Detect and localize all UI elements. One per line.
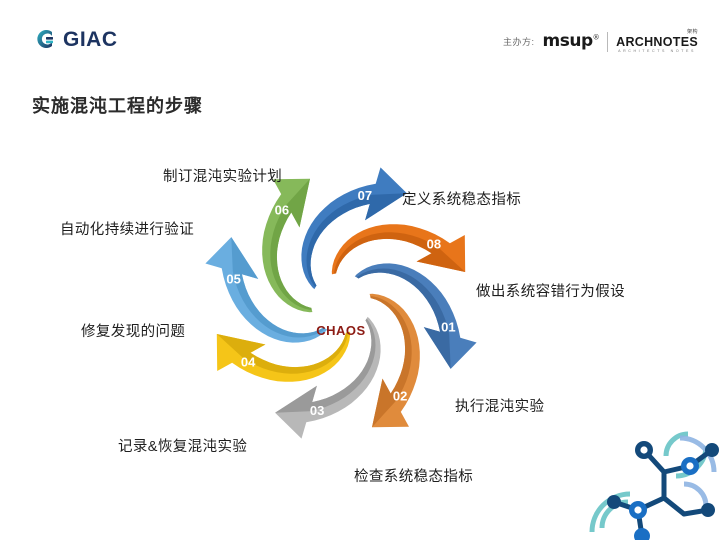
step-label-02: 定义系统稳态指标 (402, 188, 521, 209)
page-title: 实施混沌工程的步骤 (32, 92, 203, 118)
msup-logo: msup® (543, 33, 600, 50)
sponsor-bar: 主办方: msup® 架构 ARCHNOTES ARCHITECTS NOTES (503, 30, 698, 53)
archnotes-logo: 架构 ARCHNOTES ARCHITECTS NOTES (616, 30, 698, 53)
sponsor-label: 主办方: (503, 35, 535, 48)
msup-logo-text: msup (543, 31, 593, 51)
step-number-04: 04 (241, 355, 256, 370)
step-label-01: 制订混沌实验计划 (163, 165, 282, 186)
giac-mark-icon (32, 26, 58, 52)
step-number-05: 05 (226, 272, 240, 287)
step-number-01: 01 (441, 319, 455, 334)
step-number-06: 06 (275, 203, 289, 218)
step-number-08: 08 (427, 236, 441, 251)
step-label-03: 做出系统容错行为假设 (476, 280, 625, 301)
step-number-02: 02 (393, 388, 407, 403)
giac-logo-text: GIAC (63, 29, 118, 50)
slide-root: GIAC 主办方: msup® 架构 ARCHNOTES ARCHITECTS … (0, 0, 720, 540)
archnotes-logo-text: ARCHNOTES (616, 36, 698, 49)
step-label-07: 修复发现的问题 (81, 320, 185, 341)
giac-logo: GIAC (32, 26, 118, 52)
step-label-06: 记录&恢复混沌实验 (118, 435, 247, 456)
step-number-07: 07 (358, 188, 372, 203)
chaos-spiral-diagram: 0102030405060708 CHAOS 制订混沌实验计划定义系统稳态指标做… (0, 140, 720, 500)
step-label-04: 执行混沌实验 (455, 395, 544, 416)
chaos-center-label: CHAOS (310, 315, 372, 345)
msup-trademark: ® (593, 33, 600, 41)
archnotes-subtitle: ARCHITECTS NOTES (618, 50, 696, 54)
sponsor-divider (607, 32, 608, 52)
step-number-03: 03 (310, 403, 324, 418)
step-label-05: 检查系统稳态指标 (354, 465, 473, 486)
step-label-08: 自动化持续进行验证 (60, 218, 194, 239)
